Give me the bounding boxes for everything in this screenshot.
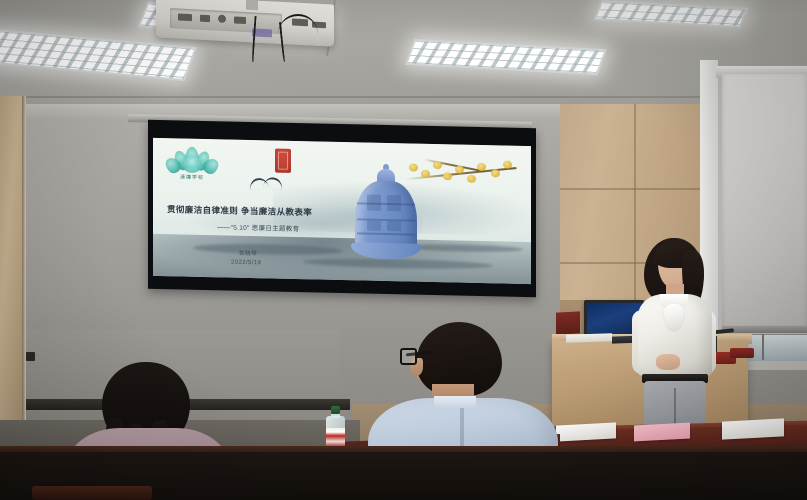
wall-switch[interactable] bbox=[26, 352, 35, 361]
window-mullion bbox=[762, 334, 764, 360]
pillar-edge bbox=[22, 96, 26, 426]
slide-presenter-name: 张晓琴 bbox=[239, 250, 257, 258]
chair-back bbox=[32, 486, 152, 500]
ceiling-seam bbox=[0, 96, 807, 98]
slide-surface: 清廉学校 bbox=[153, 138, 531, 284]
projector-port bbox=[178, 13, 192, 21]
red-cloth-item bbox=[730, 348, 754, 358]
window-roller-blind[interactable] bbox=[722, 74, 807, 330]
slide-seal-icon bbox=[275, 149, 291, 173]
projection-screen[interactable]: 清廉学校 bbox=[148, 120, 536, 297]
slide-logo: 清廉学校 bbox=[163, 146, 221, 187]
audience-collar bbox=[434, 396, 476, 410]
slide-logo-text: 清廉学校 bbox=[167, 174, 217, 182]
desk-papers bbox=[566, 333, 612, 343]
projector-port bbox=[218, 15, 226, 23]
classroom-scene: 清廉学校 bbox=[0, 0, 807, 500]
glasses-lens-icon bbox=[400, 348, 417, 365]
blind-bottom-bar[interactable] bbox=[722, 326, 807, 333]
bottle-cap[interactable] bbox=[331, 406, 340, 414]
projector-port bbox=[234, 16, 246, 24]
slide-bird-icon bbox=[249, 176, 283, 191]
slide-date: 2022/5/19 bbox=[231, 259, 261, 268]
projector-mount bbox=[246, 0, 258, 10]
presenter-hands bbox=[656, 354, 680, 370]
document-white bbox=[722, 418, 784, 439]
wooden-pillar-left bbox=[0, 96, 24, 426]
projector-port bbox=[200, 15, 210, 23]
document-pink bbox=[634, 423, 690, 442]
presenter-figure bbox=[628, 238, 724, 438]
red-book-on-desk bbox=[556, 311, 580, 334]
document-white bbox=[556, 422, 616, 441]
